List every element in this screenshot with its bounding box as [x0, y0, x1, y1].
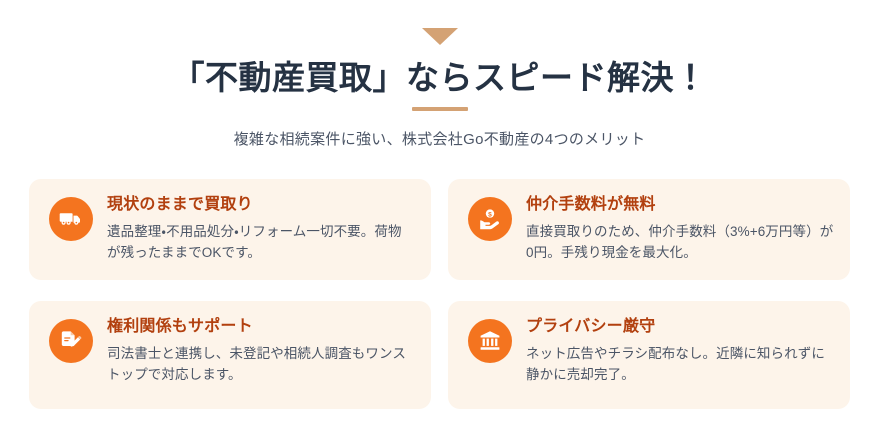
hand-holding-coin-icon: $: [468, 197, 512, 241]
card-body: 権利関係もサポート 司法書士と連携し、未登記や相続人調査もワンストップで対応しま…: [107, 315, 415, 385]
card-description: ネット広告やチラシ配布なし。近隣に知られずに静かに売却完了。: [526, 343, 834, 386]
card-description: 直接買取りのため、仲介手数料（3%+6万円等）が0円。手残り現金を最大化。: [526, 221, 834, 264]
arrow-container: [0, 0, 879, 45]
heading-block: 「不動産買取」ならスピード解決！: [0, 57, 879, 111]
benefit-card-grid: 現状のままで買取り 遺品整理・不用品処分・リフォーム一切不要。荷物が残ったままで…: [29, 179, 850, 409]
card-description: 司法書士と連携し、未登記や相続人調査もワンストップで対応します。: [107, 343, 415, 386]
card-title: プライバシー厳守: [526, 316, 834, 338]
card-title: 現状のままで買取り: [107, 194, 415, 216]
svg-text:$: $: [488, 212, 492, 219]
page-title: 「不動産買取」ならスピード解決！: [0, 57, 879, 98]
promo-section: 「不動産買取」ならスピード解決！ 複雑な相続案件に強い、株式会社Go不動産の4つ…: [0, 0, 879, 443]
card-body: 仲介手数料が無料 直接買取りのため、仲介手数料（3%+6万円等）が0円。手残り現…: [526, 193, 834, 263]
bank-building-icon: [468, 319, 512, 363]
benefit-card: $ 仲介手数料が無料 直接買取りのため、仲介手数料（3%+6万円等）が0円。手残…: [448, 179, 850, 280]
page-subtitle: 複雑な相続案件に強い、株式会社Go不動産の4つのメリット: [0, 128, 879, 149]
card-body: 現状のままで買取り 遺品整理・不用品処分・リフォーム一切不要。荷物が残ったままで…: [107, 193, 415, 263]
card-description: 遺品整理・不用品処分・リフォーム一切不要。荷物が残ったままでOKです。: [107, 221, 415, 264]
benefit-card: 現状のままで買取り 遺品整理・不用品処分・リフォーム一切不要。荷物が残ったままで…: [29, 179, 431, 280]
card-title: 仲介手数料が無料: [526, 194, 834, 216]
card-body: プライバシー厳守 ネット広告やチラシ配布なし。近隣に知られずに静かに売却完了。: [526, 315, 834, 385]
document-pen-icon: [49, 319, 93, 363]
benefit-card: プライバシー厳守 ネット広告やチラシ配布なし。近隣に知られずに静かに売却完了。: [448, 301, 850, 409]
heading-underline: [412, 107, 468, 111]
triangle-down-icon: [422, 28, 458, 45]
benefit-card: 権利関係もサポート 司法書士と連携し、未登記や相続人調査もワンストップで対応しま…: [29, 301, 431, 409]
truck-icon: [49, 197, 93, 241]
card-title: 権利関係もサポート: [107, 316, 415, 338]
